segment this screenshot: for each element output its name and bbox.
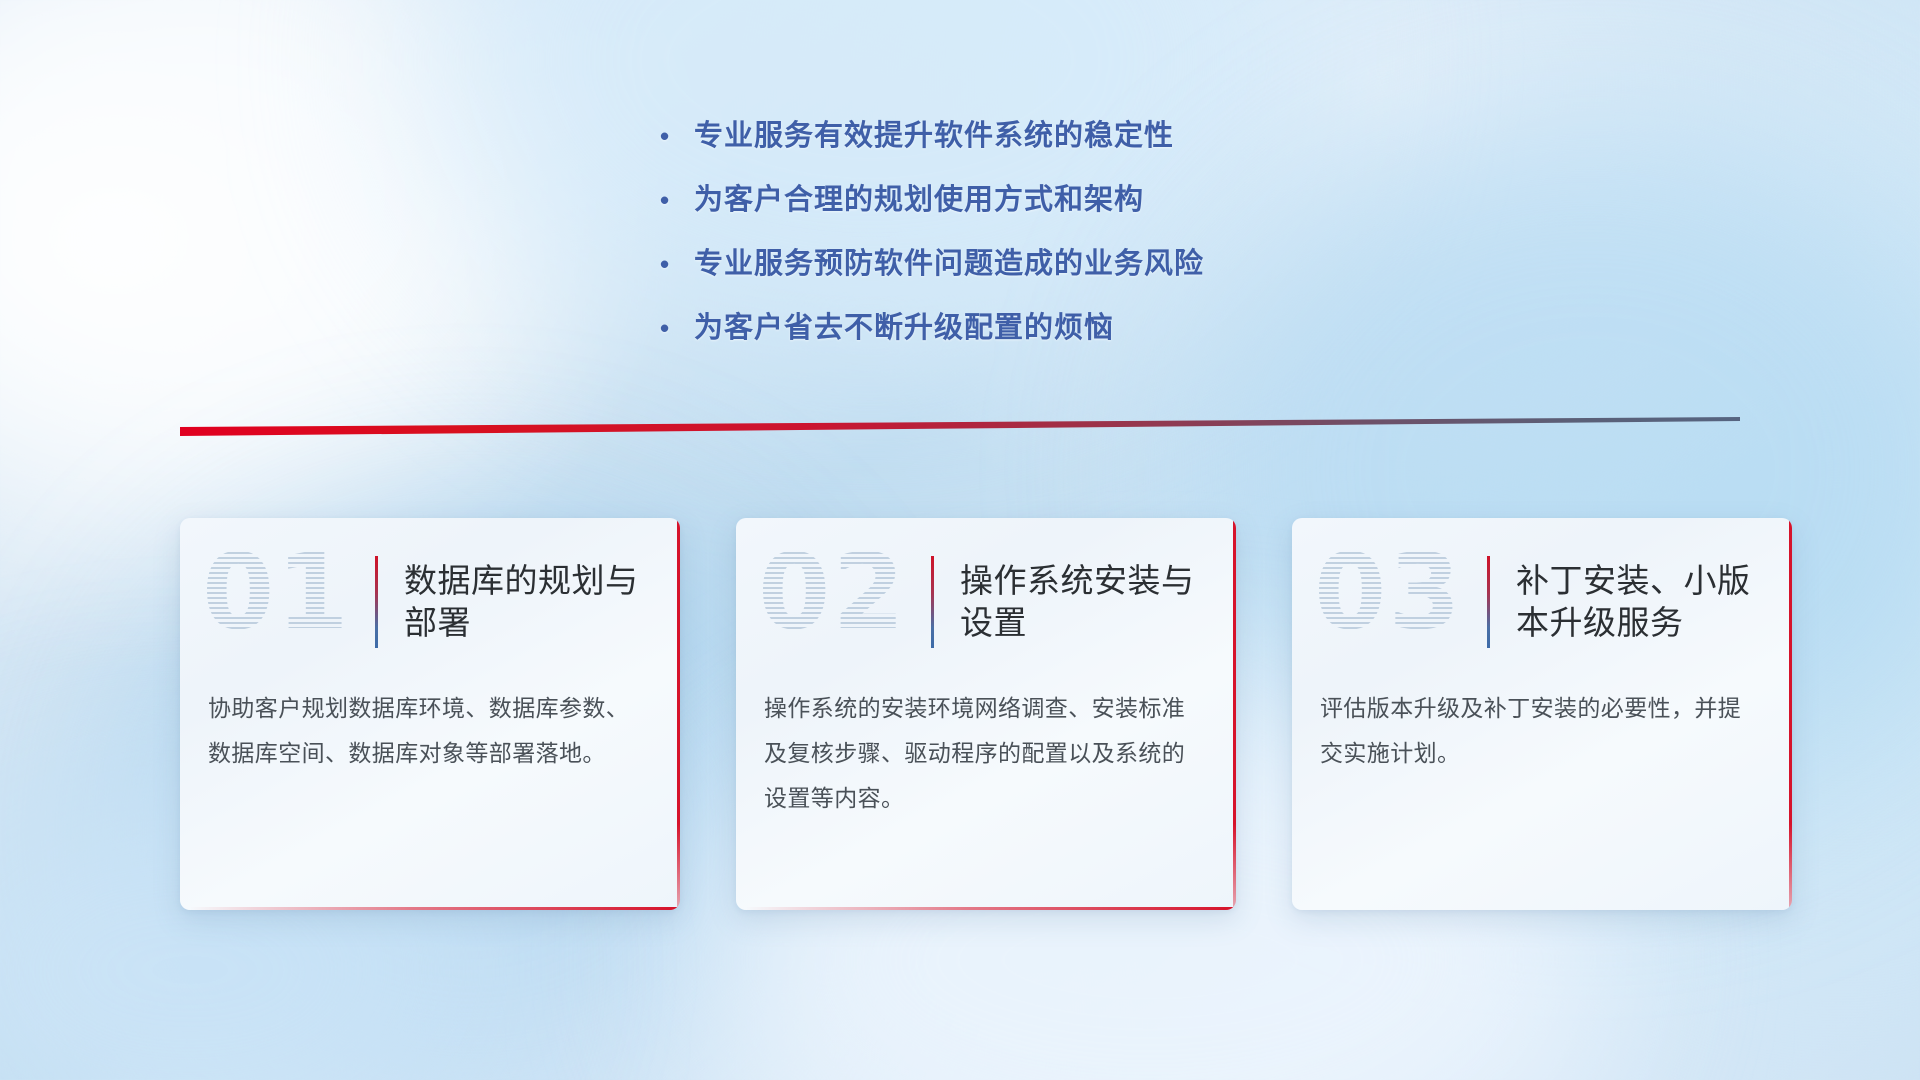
bullet-text: 专业服务预防软件问题造成的业务风险 bbox=[694, 240, 1204, 282]
service-card-02[interactable]: 02 操作系统安装与设置 操作系统的安装环境网络调查、安装标准及复核步骤、驱动程… bbox=[736, 518, 1236, 910]
service-card-row: 01 数据库的规划与部署 协助客户规划数据库环境、数据库参数、数据库空间、数据库… bbox=[180, 518, 1800, 918]
card-title: 补丁安装、小版本升级服务 bbox=[1516, 560, 1766, 644]
tapered-rule-divider-icon bbox=[180, 410, 1740, 450]
bullet-dot-icon: • bbox=[660, 315, 694, 341]
list-item: • 专业服务预防软件问题造成的业务风险 bbox=[660, 240, 1420, 304]
bullet-dot-icon: • bbox=[660, 123, 694, 149]
section-divider bbox=[180, 410, 1740, 450]
card-title-group: 补丁安装、小版本升级服务 bbox=[1487, 556, 1766, 648]
bullet-dot-icon: • bbox=[660, 187, 694, 213]
bullet-dot-icon: • bbox=[660, 251, 694, 277]
card-header: 03 补丁安装、小版本升级服务 bbox=[1292, 518, 1792, 686]
list-item: • 专业服务有效提升软件系统的稳定性 bbox=[660, 112, 1420, 176]
service-card-03[interactable]: 03 补丁安装、小版本升级服务 评估版本升级及补丁安装的必要性，并提交实施计划。 bbox=[1292, 518, 1792, 910]
card-number-watermark: 03 bbox=[1314, 540, 1463, 644]
card-header: 02 操作系统安装与设置 bbox=[736, 518, 1236, 686]
title-rule-divider-icon bbox=[1487, 556, 1490, 648]
benefits-bullet-list: • 专业服务有效提升软件系统的稳定性 • 为客户合理的规划使用方式和架构 • 专… bbox=[660, 112, 1420, 368]
title-rule-divider-icon bbox=[931, 556, 934, 648]
bullet-text: 为客户合理的规划使用方式和架构 bbox=[694, 176, 1144, 218]
card-title: 数据库的规划与部署 bbox=[404, 560, 654, 644]
card-title: 操作系统安装与设置 bbox=[960, 560, 1210, 644]
card-body-text: 协助客户规划数据库环境、数据库参数、数据库空间、数据库对象等部署落地。 bbox=[180, 686, 680, 776]
card-number-watermark: 02 bbox=[758, 540, 907, 644]
card-number-watermark: 01 bbox=[202, 540, 351, 644]
title-rule-divider-icon bbox=[375, 556, 378, 648]
slide-stage: • 专业服务有效提升软件系统的稳定性 • 为客户合理的规划使用方式和架构 • 专… bbox=[0, 0, 1920, 1080]
bullet-text: 专业服务有效提升软件系统的稳定性 bbox=[694, 112, 1174, 154]
card-title-group: 操作系统安装与设置 bbox=[931, 556, 1210, 648]
card-header: 01 数据库的规划与部署 bbox=[180, 518, 680, 686]
card-body-text: 操作系统的安装环境网络调查、安装标准及复核步骤、驱动程序的配置以及系统的设置等内… bbox=[736, 686, 1236, 821]
list-item: • 为客户合理的规划使用方式和架构 bbox=[660, 176, 1420, 240]
card-body-text: 评估版本升级及补丁安装的必要性，并提交实施计划。 bbox=[1292, 686, 1792, 776]
list-item: • 为客户省去不断升级配置的烦恼 bbox=[660, 304, 1420, 368]
bullet-text: 为客户省去不断升级配置的烦恼 bbox=[694, 304, 1114, 346]
service-card-01[interactable]: 01 数据库的规划与部署 协助客户规划数据库环境、数据库参数、数据库空间、数据库… bbox=[180, 518, 680, 910]
card-title-group: 数据库的规划与部署 bbox=[375, 556, 654, 648]
